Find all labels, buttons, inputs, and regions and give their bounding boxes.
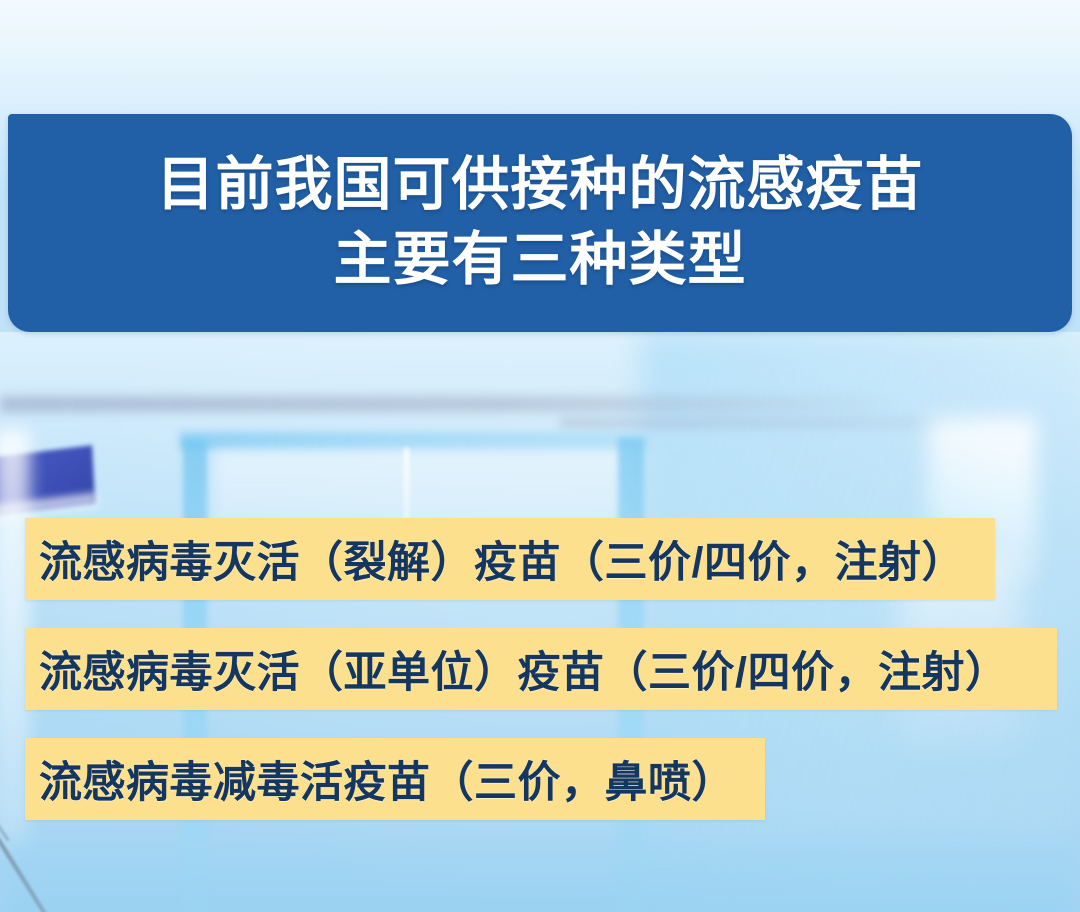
vaccine-type-list: 流感病毒灭活（裂解）疫苗（三价/四价，注射） 流感病毒灭活（亚单位）疫苗（三价/… xyxy=(0,0,1080,912)
vaccine-type-label-3: 流感病毒减毒活疫苗（三价，鼻喷） xyxy=(39,748,735,810)
vaccine-type-item-3: 流感病毒减毒活疫苗（三价，鼻喷） xyxy=(25,738,765,820)
vaccine-type-label-2: 流感病毒灭活（亚单位）疫苗（三价/四价，注射） xyxy=(39,638,1008,700)
vaccine-type-label-1: 流感病毒灭活（裂解）疫苗（三价/四价，注射） xyxy=(39,528,965,590)
vaccine-type-item-2: 流感病毒灭活（亚单位）疫苗（三价/四价，注射） xyxy=(25,628,1057,710)
vaccine-type-item-1: 流感病毒灭活（裂解）疫苗（三价/四价，注射） xyxy=(25,518,995,600)
